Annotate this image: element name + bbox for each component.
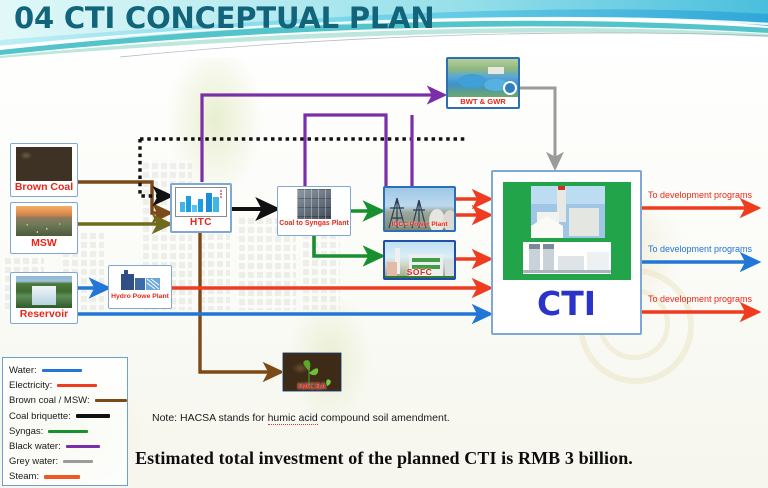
legend-label-coal-briquette: Coal briquette: [9, 411, 71, 422]
syngas-plant-image [297, 189, 331, 219]
hydro-icon [116, 268, 164, 292]
output-label-1: To development programs [648, 190, 752, 200]
node-hacsa[interactable]: HACSA [282, 352, 342, 392]
brown-coal-image [16, 147, 72, 181]
legend-swatch-steam [44, 475, 80, 479]
legend-label-brown-coal-msw: Brown coal / MSW: [9, 395, 90, 406]
legend-swatch-syngas [48, 430, 88, 433]
node-htc[interactable]: HTC [170, 183, 232, 233]
node-label-htc: HTC [172, 218, 230, 229]
node-reservoir[interactable]: Reservoir [10, 272, 78, 324]
node-sofc[interactable]: SOFC [383, 240, 456, 280]
hydro-plant-image [116, 268, 164, 292]
note-underlined: humic acid [268, 412, 318, 425]
footer-investment-text: Estimated total investment of the planne… [0, 448, 768, 469]
output-label-3: To development programs [648, 294, 752, 304]
note-prefix: Note: HACSA stands for [152, 412, 268, 424]
node-label-brown-coal: Brown Coal [11, 182, 77, 193]
node-msw[interactable]: MSW [10, 202, 78, 254]
node-label-cti: CTI [493, 286, 640, 322]
legend-item: Steam: [9, 469, 127, 484]
node-igcc-power-plant[interactable]: IGCC Power Plant [383, 186, 456, 232]
node-label-bwt-gwr: BWT & GWR [448, 98, 518, 106]
node-hydro-power-plant[interactable]: Hydro Powe Plant [108, 265, 172, 309]
legend-label-electricity: Electricity: [9, 380, 52, 391]
node-label-msw: MSW [11, 238, 77, 249]
legend-swatch-electricity [57, 384, 97, 387]
cti-plant-icon [503, 182, 631, 280]
node-label-hacsa: HACSA [283, 383, 341, 391]
water-plant-icon [448, 59, 518, 97]
legend-item: Brown coal / MSW: [9, 393, 127, 408]
note-text: Note: HACSA stands for humic acid compou… [152, 412, 450, 424]
node-label-syngas: Coal to Syngas Plant [278, 220, 350, 227]
htc-image [175, 187, 227, 217]
legend-swatch-water [42, 369, 82, 372]
page-title: 04 CTI CONCEPTUAL PLAN [14, 1, 434, 35]
htc-chart-icon [177, 188, 225, 214]
legend-swatch-coal-briquette [76, 414, 110, 418]
legend-swatch-brown-coal-msw [95, 399, 127, 402]
slide-canvas: 04 CTI CONCEPTUAL PLAN [0, 0, 768, 488]
output-label-2: To development programs [648, 244, 752, 254]
node-label-hydro: Hydro Powe Plant [109, 293, 171, 300]
node-coal-to-syngas-plant[interactable]: Coal to Syngas Plant [277, 186, 351, 236]
bwt-gwr-image [448, 59, 518, 97]
legend-item: Electricity: [9, 378, 127, 393]
msw-image [16, 206, 72, 236]
node-bwt-gwr[interactable]: BWT & GWR [446, 57, 520, 109]
note-suffix: compound soil amendment. [318, 412, 450, 424]
node-label-igcc: IGCC Power Plant [385, 222, 454, 229]
node-cti[interactable]: CTI [491, 170, 642, 335]
reservoir-image [16, 276, 72, 308]
legend-label-syngas: Syngas: [9, 426, 43, 437]
legend-item: Coal briquette: [9, 409, 127, 424]
cti-image [503, 182, 631, 280]
node-label-sofc: SOFC [385, 268, 454, 277]
legend-item: Water: [9, 363, 127, 378]
legend-label-water: Water: [9, 365, 37, 376]
legend-item: Syngas: [9, 424, 127, 439]
node-brown-coal[interactable]: Brown Coal [10, 143, 78, 197]
node-label-reservoir: Reservoir [11, 309, 77, 320]
legend-label-steam: Steam: [9, 471, 39, 482]
